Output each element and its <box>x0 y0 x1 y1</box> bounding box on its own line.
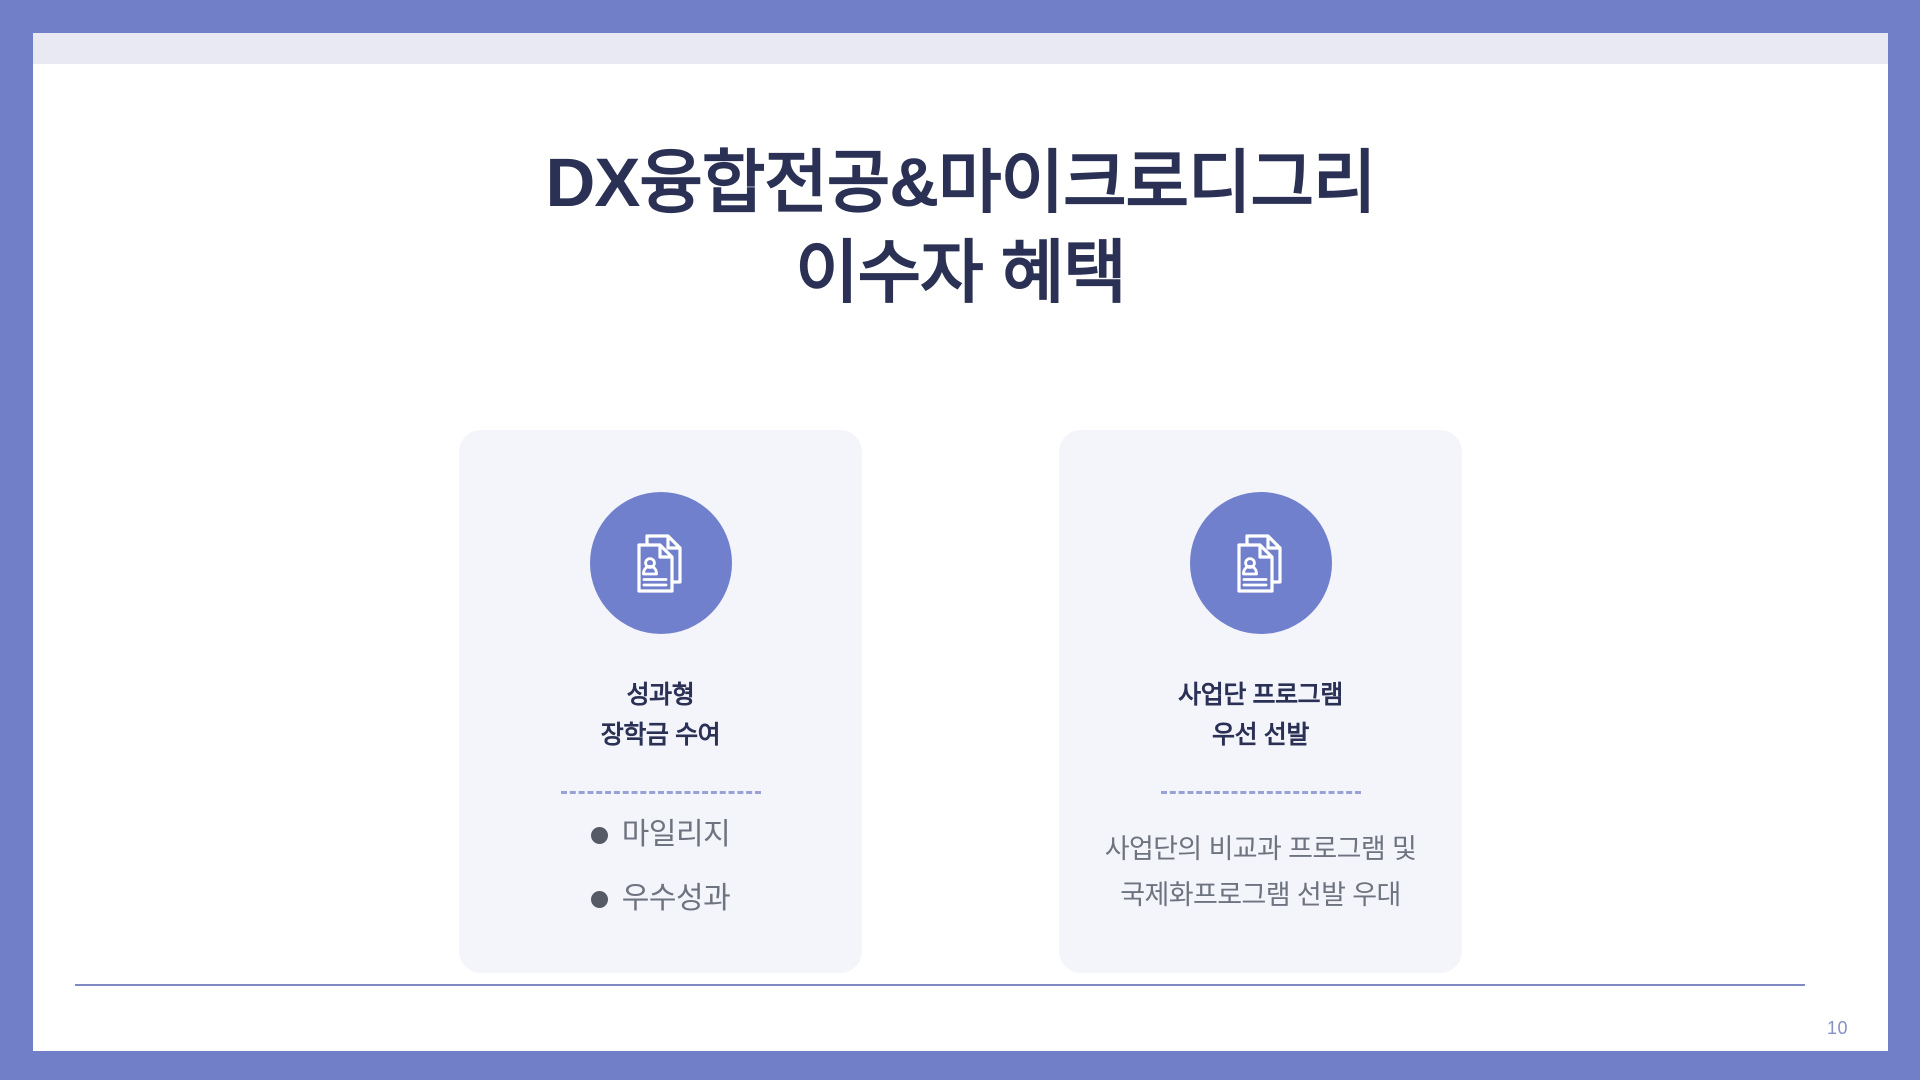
top-accent-band <box>33 33 1888 64</box>
card-bullet-list: 마일리지 우수성과 <box>591 820 730 948</box>
card-dashed-divider <box>561 791 761 794</box>
page-number: 10 <box>1827 1018 1848 1039</box>
card-body-line-1: 사업단의 비교과 프로그램 및 <box>1105 826 1417 872</box>
card-heading-line-2: 장학금 수여 <box>601 716 721 756</box>
card-body-line-2: 국제화프로그램 선발 우대 <box>1105 872 1417 918</box>
slide-frame: DX융합전공&마이크로디그리 이수자 혜택 <box>0 0 1920 1080</box>
document-person-icon <box>590 492 732 634</box>
card-dashed-divider <box>1161 791 1361 794</box>
benefit-card-scholarship[interactable]: 성과형 장학금 수여 마일리지 우수성과 <box>459 430 862 973</box>
list-item-label: 마일리지 <box>622 820 730 850</box>
list-item-label: 우수성과 <box>622 884 730 914</box>
page-title-line-1: DX융합전공&마이크로디그리 <box>33 138 1888 228</box>
slide-canvas: DX융합전공&마이크로디그리 이수자 혜택 <box>33 33 1888 1051</box>
card-heading: 성과형 장학금 수여 <box>601 676 721 755</box>
card-heading-line-1: 성과형 <box>601 676 721 716</box>
card-body-text: 사업단의 비교과 프로그램 및 국제화프로그램 선발 우대 <box>1105 826 1417 919</box>
benefit-card-program-priority[interactable]: 사업단 프로그램 우선 선발 사업단의 비교과 프로그램 및 국제화프로그램 선… <box>1059 430 1462 973</box>
card-heading-line-2: 우선 선발 <box>1178 716 1343 756</box>
document-person-icon <box>1190 492 1332 634</box>
bullet-dot-icon <box>591 891 608 908</box>
card-heading-line-1: 사업단 프로그램 <box>1178 676 1343 716</box>
bullet-dot-icon <box>591 827 608 844</box>
benefit-cards-row: 성과형 장학금 수여 마일리지 우수성과 <box>33 430 1888 973</box>
list-item: 우수성과 <box>591 884 730 914</box>
list-item: 마일리지 <box>591 820 730 850</box>
card-heading: 사업단 프로그램 우선 선발 <box>1178 676 1343 755</box>
page-title-line-2: 이수자 혜택 <box>33 228 1888 318</box>
page-title: DX융합전공&마이크로디그리 이수자 혜택 <box>33 138 1888 317</box>
footer-divider <box>75 984 1805 986</box>
